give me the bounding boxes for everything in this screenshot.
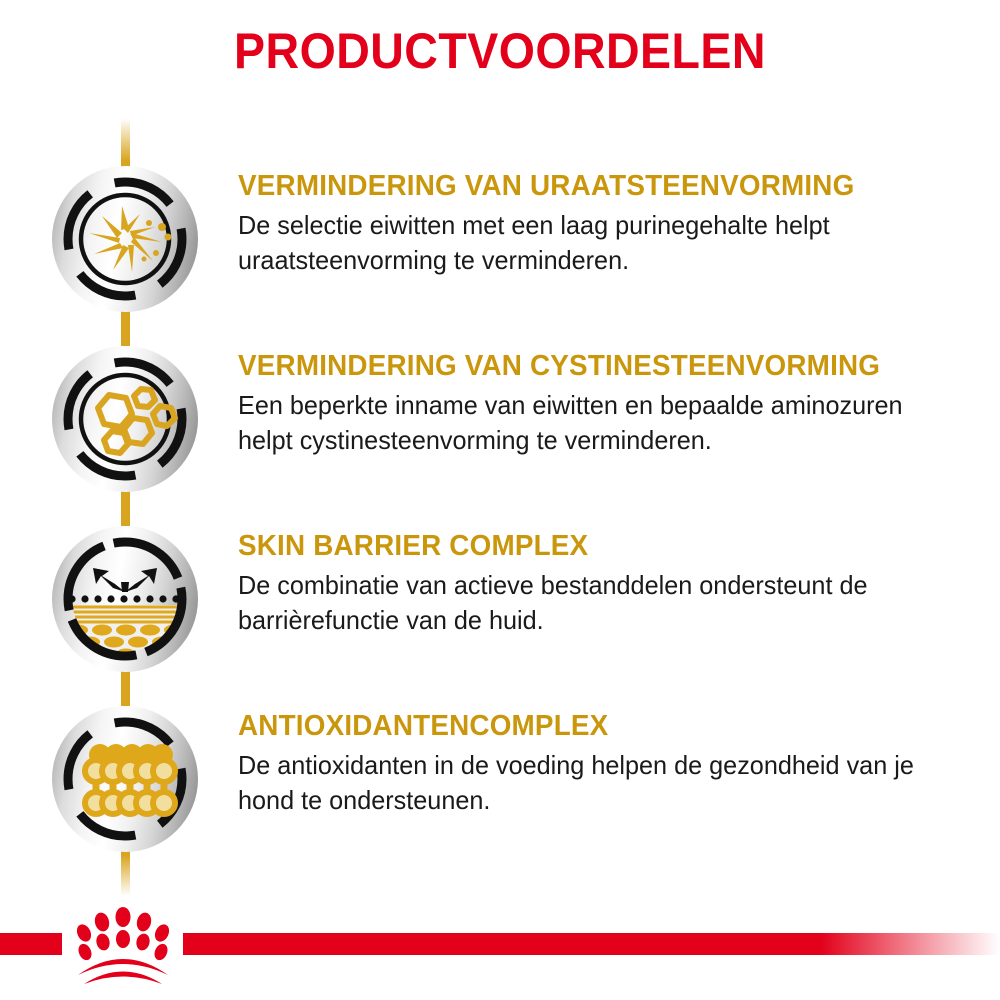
- benefit-body: De combinatie van actieve bestanddelen o…: [238, 568, 964, 638]
- benefit-row: ANTIOXIDANTENCOMPLEX De antioxidanten in…: [0, 703, 1000, 863]
- royal-canin-crown-logo: [62, 905, 184, 985]
- connector-line-top: [121, 118, 130, 168]
- page-title: PRODUCTVOORDELEN: [35, 22, 965, 80]
- skin-barrier-glyph: [52, 526, 198, 672]
- skin-barrier-icon: [52, 526, 198, 672]
- benefit-text: ANTIOXIDANTENCOMPLEX De antioxidanten in…: [238, 709, 986, 818]
- benefit-body: De selectie eiwitten met een laag purine…: [238, 208, 964, 278]
- benefit-title: VERMINDERING VAN CYSTINESTEENVORMING: [238, 349, 956, 383]
- benefit-title: ANTIOXIDANTENCOMPLEX: [238, 709, 956, 743]
- benefit-text: VERMINDERING VAN CYSTINESTEENVORMING Een…: [238, 349, 986, 458]
- benefit-title: VERMINDERING VAN URAATSTEENVORMING: [238, 169, 956, 203]
- footer-bar-right: [183, 933, 1000, 955]
- footer-bar-left: [0, 933, 62, 955]
- crystal-burst-glyph: [52, 166, 198, 312]
- benefit-row: VERMINDERING VAN CYSTINESTEENVORMING Een…: [0, 343, 1000, 503]
- benefit-body: De antioxidanten in de voeding helpen de…: [238, 748, 964, 818]
- hexagon-crystals-icon: [52, 346, 198, 492]
- benefit-row: SKIN BARRIER COMPLEX De combinatie van a…: [0, 523, 1000, 683]
- benefit-text: VERMINDERING VAN URAATSTEENVORMING De se…: [238, 169, 986, 278]
- benefit-text: SKIN BARRIER COMPLEX De combinatie van a…: [238, 529, 986, 638]
- crystal-burst-icon: [52, 166, 198, 312]
- antioxidant-lattice-glyph: [52, 706, 198, 852]
- benefit-row: VERMINDERING VAN URAATSTEENVORMING De se…: [0, 163, 1000, 323]
- hexagon-crystals-glyph: [52, 346, 198, 492]
- product-benefits-page: PRODUCTVOORDELEN: [0, 0, 1000, 1000]
- antioxidant-lattice-icon: [52, 706, 198, 852]
- benefit-body: Een beperkte inname van eiwitten en bepa…: [238, 388, 964, 458]
- benefit-title: SKIN BARRIER COMPLEX: [238, 529, 956, 563]
